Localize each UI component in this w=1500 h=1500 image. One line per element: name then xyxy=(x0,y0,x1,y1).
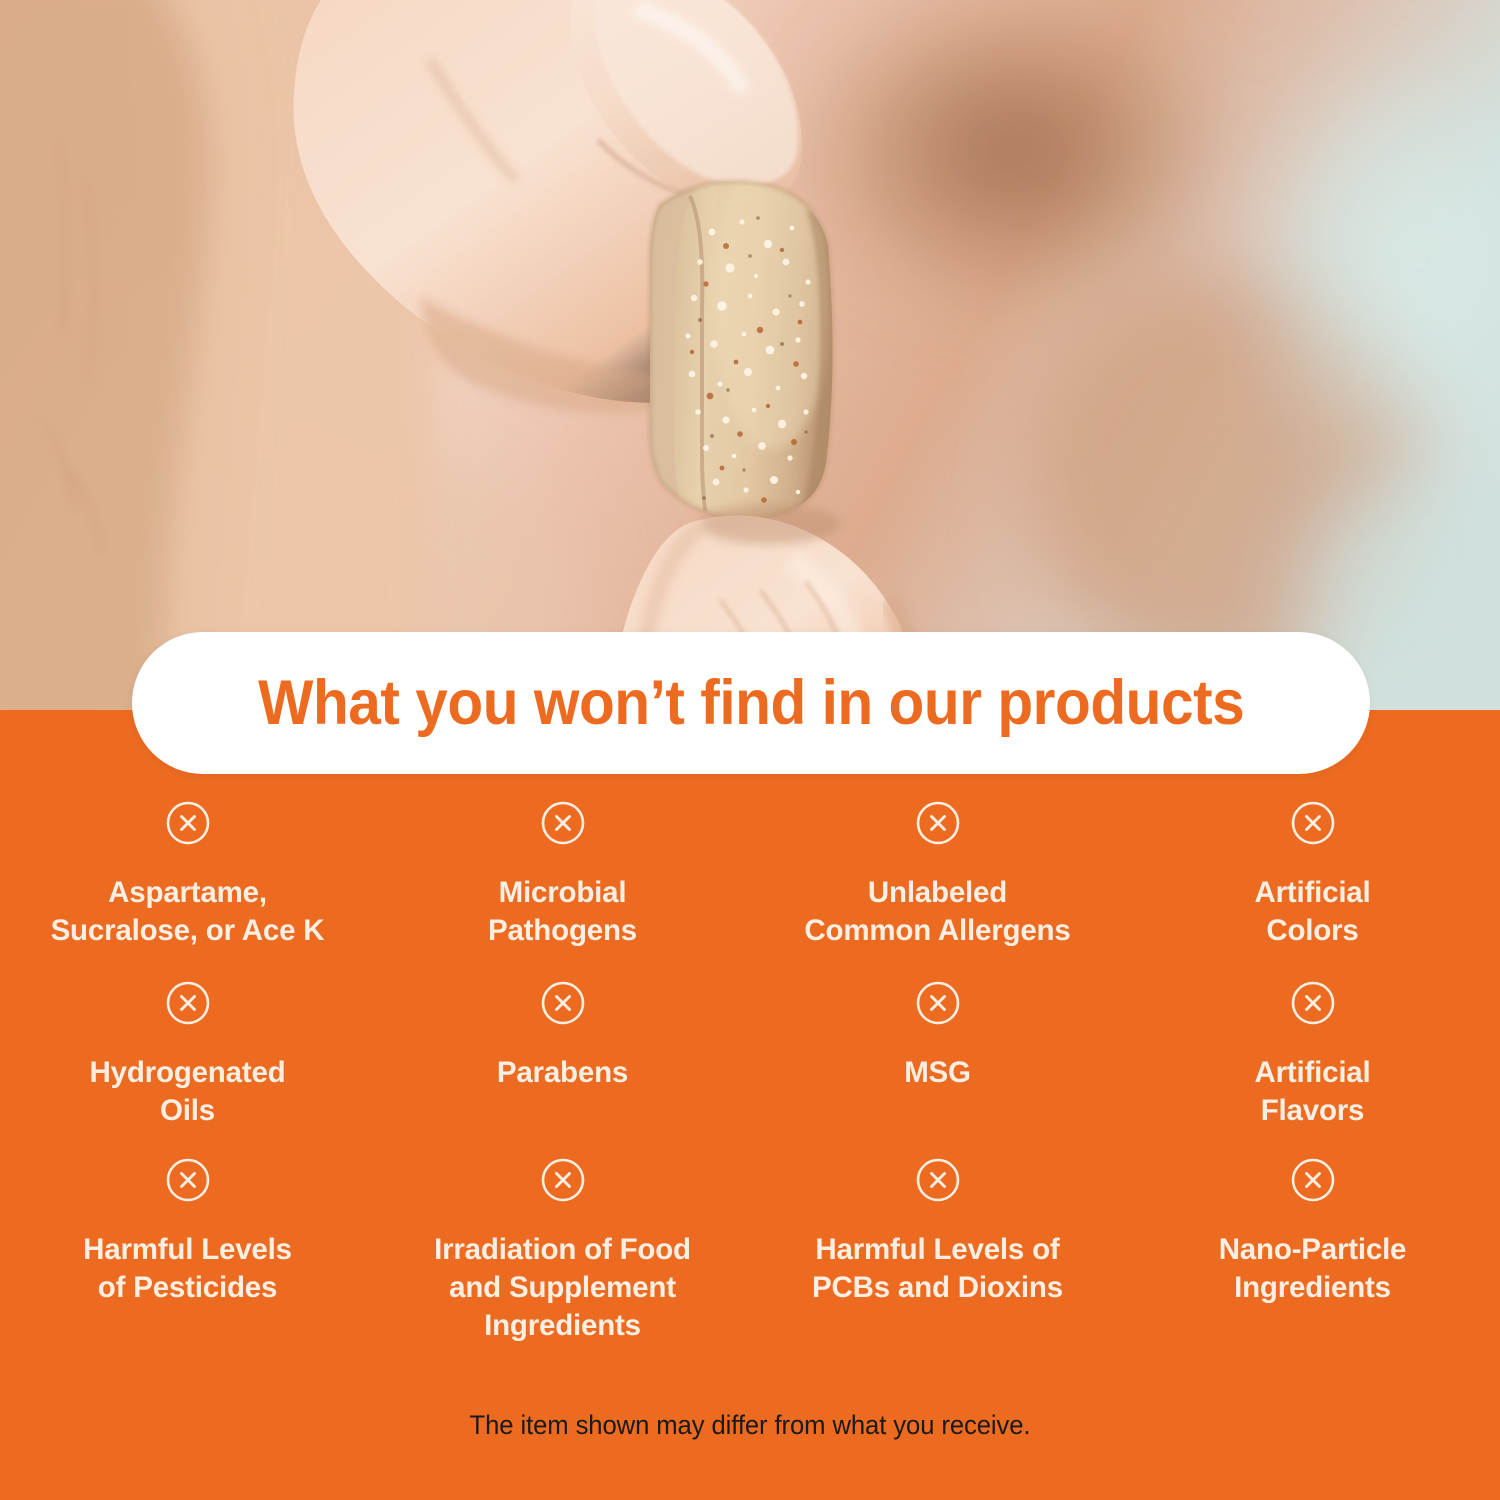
exclusion-item: Harmful Levels ofPCBs and Dioxins xyxy=(750,1157,1125,1337)
circle-x-icon xyxy=(165,1157,211,1203)
circle-x-icon xyxy=(915,800,961,846)
exclusion-item: Irradiation of Foodand SupplementIngredi… xyxy=(375,1157,750,1337)
title-emphasis: won’t xyxy=(534,668,685,738)
exclusion-label: Harmful Levelsof Pesticides xyxy=(83,1231,292,1307)
circle-x-icon xyxy=(165,980,211,1026)
hero-photo xyxy=(0,0,1500,710)
title-after: find in our products xyxy=(684,668,1244,738)
circle-x-icon xyxy=(540,800,586,846)
circle-x-icon xyxy=(915,980,961,1026)
exclusion-label: Aspartame,Sucralose, or Ace K xyxy=(51,874,325,950)
exclusion-label: MSG xyxy=(904,1054,971,1092)
exclusion-label: Nano-ParticleIngredients xyxy=(1219,1231,1407,1307)
exclusion-label: ArtificialColors xyxy=(1254,874,1370,950)
exclusions-grid: Aspartame,Sucralose, or Ace K MicrobialP… xyxy=(0,800,1500,1337)
exclusion-item: MSG xyxy=(750,980,1125,1157)
exclusion-label: UnlabeledCommon Allergens xyxy=(804,874,1070,950)
exclusion-label: HydrogenatedOils xyxy=(90,1054,286,1130)
circle-x-icon xyxy=(1290,800,1336,846)
title-card: What you won’t find in our products xyxy=(132,632,1370,774)
circle-x-icon xyxy=(540,1157,586,1203)
circle-x-icon xyxy=(540,980,586,1026)
exclusion-item: ArtificialColors xyxy=(1125,800,1500,980)
exclusion-label: Harmful Levels ofPCBs and Dioxins xyxy=(812,1231,1063,1307)
exclusion-item: Nano-ParticleIngredients xyxy=(1125,1157,1500,1337)
product-infographic: What you won’t find in our products Aspa… xyxy=(0,0,1500,1500)
disclaimer-text: The item shown may differ from what you … xyxy=(38,1410,1463,1441)
exclusion-label: Parabens xyxy=(497,1054,628,1092)
exclusion-label: Irradiation of Foodand SupplementIngredi… xyxy=(434,1231,691,1344)
circle-x-icon xyxy=(915,1157,961,1203)
circle-x-icon xyxy=(1290,980,1336,1026)
exclusion-label: ArtificialFlavors xyxy=(1254,1054,1370,1130)
exclusion-item: ArtificialFlavors xyxy=(1125,980,1500,1157)
exclusion-item: MicrobialPathogens xyxy=(375,800,750,980)
page-title: What you won’t find in our products xyxy=(258,672,1244,735)
exclusion-item: Parabens xyxy=(375,980,750,1157)
exclusion-item: Aspartame,Sucralose, or Ace K xyxy=(0,800,375,980)
exclusion-item: UnlabeledCommon Allergens xyxy=(750,800,1125,980)
circle-x-icon xyxy=(1290,1157,1336,1203)
title-before: What you xyxy=(258,668,534,738)
circle-x-icon xyxy=(165,800,211,846)
exclusion-label: MicrobialPathogens xyxy=(488,874,637,950)
exclusion-item: Harmful Levelsof Pesticides xyxy=(0,1157,375,1337)
exclusion-item: HydrogenatedOils xyxy=(0,980,375,1157)
